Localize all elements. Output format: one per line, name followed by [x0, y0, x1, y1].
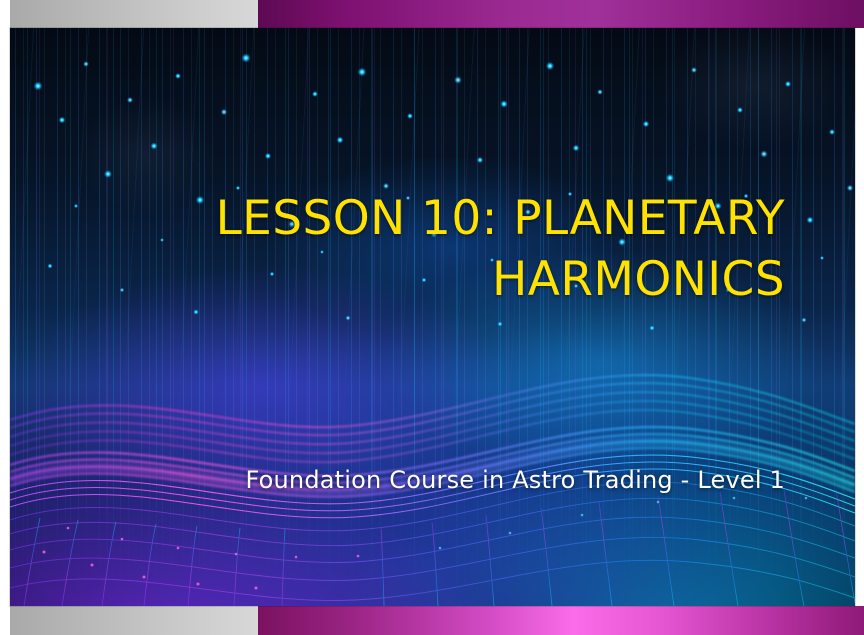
presentation-slide: LESSON 10: PLANETARY HARMONICS Foundatio…	[0, 0, 864, 635]
slide-background-image: LESSON 10: PLANETARY HARMONICS Foundatio…	[10, 28, 855, 606]
bottom-left-grey-band	[10, 606, 258, 635]
bottom-right-magenta-band	[258, 606, 864, 635]
top-left-grey-band	[10, 0, 258, 28]
wireframe-wave-mesh-layer	[10, 28, 855, 606]
top-right-magenta-band	[258, 0, 864, 28]
